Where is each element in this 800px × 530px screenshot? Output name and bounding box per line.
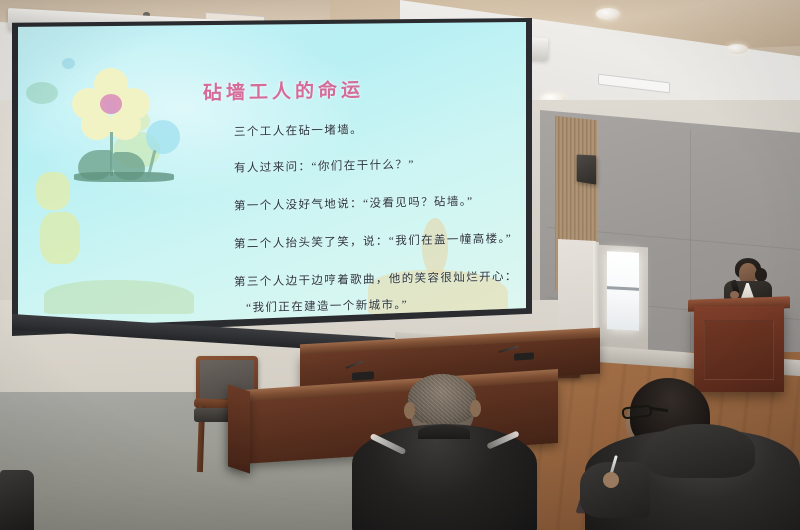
desk-microphone-base-1 [352,371,374,381]
slide-text-layer: 砧墙工人的命运 三个工人在砧一堵墙。 有人过来问：“你们在干什么？” 第一个人没… [18,22,526,328]
wall-speaker-icon [577,155,596,185]
attendee-1-collar [418,425,470,439]
attendee-2-hand [603,472,619,488]
slide-line-2: 有人过来问：“你们在干什么？” [234,156,415,176]
attendee-2-hood [645,424,755,478]
attendee-1-ear-left [404,402,415,419]
wall-seam-3 [690,130,691,370]
slide-title: 砧墙工人的命运 [203,75,364,105]
attendee-1-hair-overlay [408,374,476,424]
projection-screen: 砧墙工人的命运 三个工人在砧一堵墙。 有人过来问：“你们在干什么？” 第一个人没… [18,22,526,328]
attendee-2-arm [580,462,650,518]
slide-line-5: 第三个人边干边哼着歌曲，他的笑容很灿烂开心： [234,268,518,290]
speaker-hair-bun [755,268,767,282]
attendee-1-ear-right [470,400,481,417]
slide-line-1: 三个工人在砧一堵墙。 [234,121,363,140]
desk-microphone-base-2 [514,352,534,360]
ceiling-downlight-3 [726,44,748,54]
presentation-room-photo: 砧墙工人的命运 三个工人在砧一堵墙。 有人过来问：“你们在干什么？” 第一个人没… [0,0,800,530]
slide-line-4: 第二个人抬头笑了笑，说：“我们在盖一幢高楼。” [234,230,512,252]
ceiling-downlight-1 [596,8,620,20]
podium-front-panel [704,320,774,380]
conference-table-side-panel [228,384,250,473]
doorway-glass [607,251,639,331]
slide-line-3: 第一个人没好气地说：“没看见吗？砧墙。” [234,193,473,214]
foreground-chair-left[interactable] [0,470,34,530]
slide-line-6: “我们正在建造一个新城市。” [246,296,408,315]
